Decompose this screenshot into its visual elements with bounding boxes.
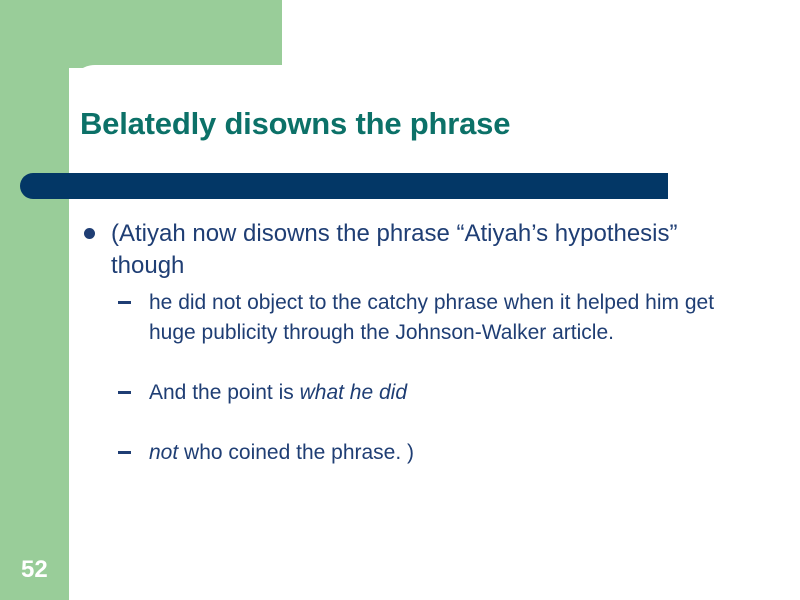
list-item: not who coined the phrase. ): [80, 438, 720, 468]
decor-green-sidebar: [0, 0, 69, 600]
list-item: (Atiyah now disowns the phrase “Atiyah’s…: [80, 218, 720, 282]
bullet-dash-icon: [118, 391, 131, 394]
slide-body: (Atiyah now disowns the phrase “Atiyah’s…: [80, 218, 720, 468]
list-item-label: he did not object to the catchy phrase w…: [149, 291, 714, 344]
sub-list: he did not object to the catchy phrase w…: [80, 288, 720, 468]
list-item-label-tail: who coined the phrase. ): [178, 441, 414, 464]
bullet-dash-icon: [118, 451, 131, 454]
page-title: Belatedly disowns the phrase: [80, 106, 740, 142]
list-item: And the point is what he did: [80, 378, 720, 408]
bullet-dot-icon: [84, 228, 95, 239]
list-item-label-emphasis: what he did: [300, 381, 407, 404]
list-spacer: [80, 408, 720, 438]
page-number: 52: [21, 556, 48, 584]
bullet-dash-icon: [118, 301, 131, 304]
list-item-label-emphasis: not: [149, 441, 178, 464]
list-item: he did not object to the catchy phrase w…: [80, 288, 720, 348]
title-divider-bar: [20, 173, 668, 199]
slide: Belatedly disowns the phrase (Atiyah now…: [0, 0, 800, 600]
list-item-label-lead: And the point is: [149, 381, 300, 404]
list-item-label: (Atiyah now disowns the phrase “Atiyah’s…: [111, 220, 678, 279]
list-spacer: [80, 348, 720, 378]
